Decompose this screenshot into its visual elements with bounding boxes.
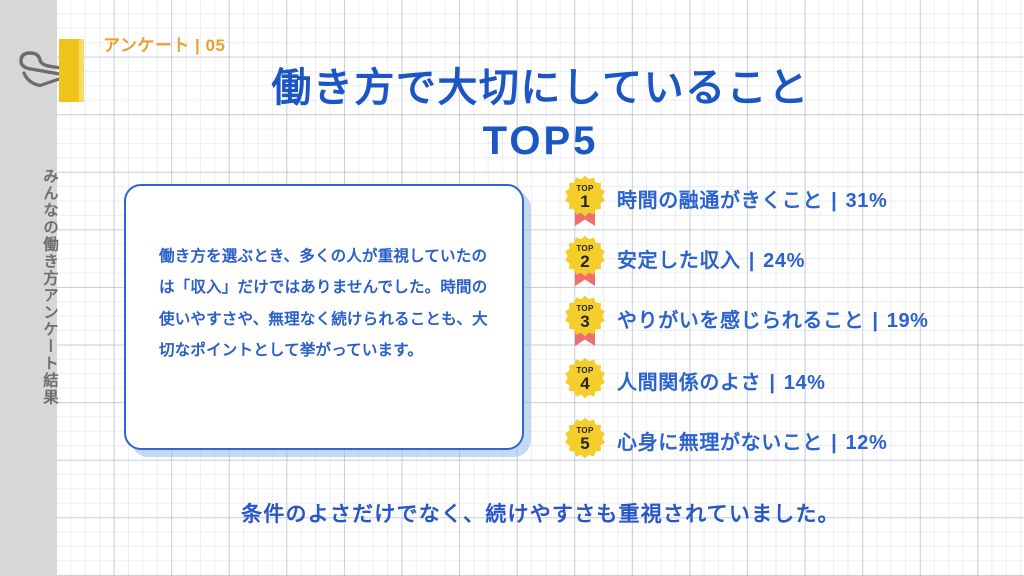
title-line-2: TOP5 — [57, 115, 1024, 168]
ranking-item-label: 時間の融通がきくこと — [617, 190, 823, 212]
ranking-item-text: 安定した収入 | 24% — [617, 244, 805, 273]
ranking-item-value: 14% — [784, 372, 826, 394]
ranking-item: TOP2安定した収入 | 24% — [563, 236, 805, 280]
rank-badge-icon: TOP4 — [563, 358, 607, 402]
ranking-item-value: 19% — [887, 310, 929, 332]
footer-caption: 条件のよさだけでなく、続けやすさも重視されていました。 — [57, 498, 1024, 528]
ranking-item-text: 時間の融通がきくこと | 31% — [617, 184, 887, 213]
ranking-item-separator: | — [761, 372, 784, 394]
ranking-item-label: やりがいを感じられること — [617, 310, 864, 332]
slide-canvas: みんなの働き方アンケート結果 アンケート | 05 働き方で大切にしていること … — [0, 0, 1024, 576]
eyebrow-label: アンケート | 05 — [103, 31, 225, 56]
ranking-item-separator: | — [741, 250, 764, 272]
rank-badge-icon: TOP3 — [563, 296, 607, 340]
rank-badge-icon: TOP5 — [563, 418, 607, 462]
svg-text:5: 5 — [580, 434, 589, 453]
svg-text:3: 3 — [580, 312, 589, 331]
page-title: 働き方で大切にしていること TOP5 — [57, 62, 1024, 168]
ranking-item-text: 心身に無理がないこと | 12% — [617, 426, 887, 455]
ranking-item: TOP3やりがいを感じられること | 19% — [563, 296, 929, 340]
summary-card-body: 働き方を選ぶとき、多くの人が重視していたのは「収入」だけではありませんでした。時… — [159, 241, 497, 366]
ranking-item-label: 人間関係のよさ — [617, 372, 761, 394]
ranking-item-label: 安定した収入 — [617, 250, 741, 272]
ranking-item-value: 31% — [846, 190, 888, 212]
rank-badge-icon: TOP1 — [563, 176, 607, 220]
ranking-item-text: やりがいを感じられること | 19% — [617, 304, 929, 333]
ranking-item-separator: | — [823, 190, 846, 212]
svg-text:1: 1 — [580, 192, 589, 211]
ranking-item: TOP4人間関係のよさ | 14% — [563, 358, 826, 402]
ranking-item-label: 心身に無理がないこと — [617, 432, 823, 454]
ranking-item-value: 24% — [763, 250, 805, 272]
title-line-1: 働き方で大切にしていること — [271, 66, 809, 110]
summary-card: 働き方を選ぶとき、多くの人が重視していたのは「収入」だけではありませんでした。時… — [124, 184, 524, 450]
ranking-item: TOP1時間の融通がきくこと | 31% — [563, 176, 887, 220]
ranking-item-separator: | — [864, 310, 887, 332]
ranking-item-text: 人間関係のよさ | 14% — [617, 366, 826, 395]
svg-text:4: 4 — [580, 374, 590, 393]
side-strip-label: みんなの働き方アンケート結果 — [0, 168, 57, 406]
ranking-item: TOP5心身に無理がないこと | 12% — [563, 418, 887, 462]
ranking-item-separator: | — [823, 432, 846, 454]
ranking-item-value: 12% — [846, 432, 888, 454]
svg-text:2: 2 — [580, 252, 589, 271]
rank-badge-icon: TOP2 — [563, 236, 607, 280]
